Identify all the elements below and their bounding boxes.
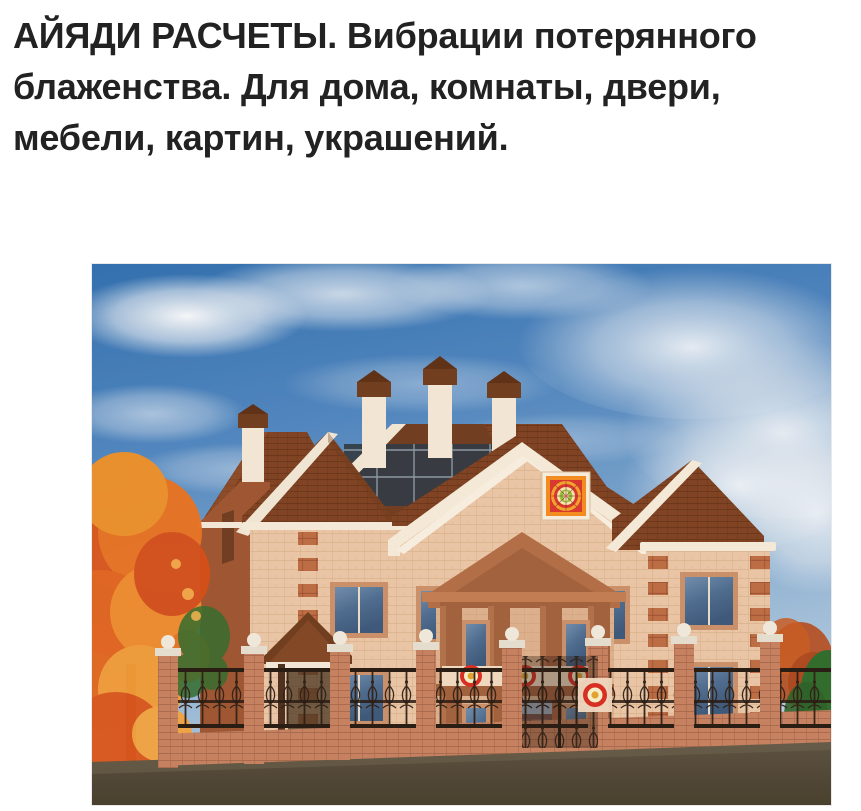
building-illustration <box>92 264 831 805</box>
page-title: АЙЯДИ РАСЧЕТЫ. Вибрации потерянного блаж… <box>13 10 849 163</box>
building-photo <box>92 264 831 805</box>
article-page: АЙЯДИ РАСЧЕТЫ. Вибрации потерянного блаж… <box>0 0 861 811</box>
